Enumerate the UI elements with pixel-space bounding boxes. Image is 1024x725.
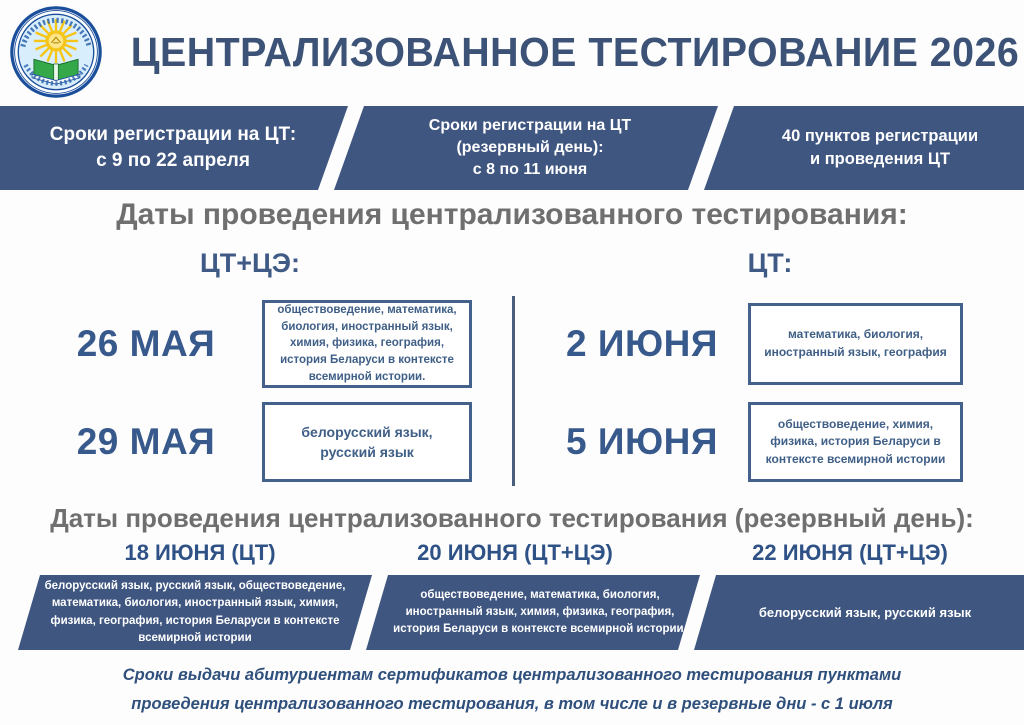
date-row: 26 МАЯ обществоведение, математика, биол… — [30, 296, 500, 391]
column-label-ct: ЦТ: — [620, 248, 920, 279]
reserve-subject-text: белорусский язык, русский язык, общество… — [30, 575, 360, 650]
date-row: 5 ИЮНЯ обществоведение, химия, физика, и… — [536, 396, 1006, 488]
subject-box: белорусский язык, русский язык — [262, 402, 472, 482]
date-label: 26 МАЯ — [30, 323, 262, 365]
registration-banner: Сроки регистрации на ЦТ: с 9 по 22 апрел… — [0, 106, 1024, 190]
main-section-heading: Даты проведения централизованного тестир… — [0, 198, 1024, 232]
banner-line: (резервный день): — [456, 137, 603, 159]
main-dates-section: ЦТ+ЦЭ: ЦТ: 26 МАЯ обществоведение, матем… — [0, 248, 1024, 493]
date-label: 2 ИЮНЯ — [536, 323, 748, 365]
reserve-date-label: 18 ИЮНЯ (ЦТ) — [75, 540, 325, 566]
banner-line: Сроки регистрации на ЦТ — [429, 115, 631, 137]
banner-panel-registration-period: Сроки регистрации на ЦТ: с 9 по 22 апрел… — [8, 106, 338, 190]
reserve-subject-text: обществоведение, математика, биология, и… — [390, 575, 690, 650]
banner-line: 40 пунктов регистрации — [782, 125, 978, 148]
footer-line: Сроки выдачи абитуриентам сертификатов ц… — [123, 661, 902, 690]
date-label: 29 МАЯ — [30, 421, 262, 463]
banner-line: и проведения ЦТ — [810, 148, 950, 171]
subject-box: математика, биология, иностранный язык, … — [748, 303, 963, 385]
reserve-date-label: 20 ИЮНЯ (ЦТ+ЦЭ) — [390, 540, 640, 566]
reserve-dates-row: 18 ИЮНЯ (ЦТ) 20 ИЮНЯ (ЦТ+ЦЭ) 22 ИЮНЯ (ЦТ… — [0, 540, 1024, 572]
reserve-subject-boxes: белорусский язык, русский язык, общество… — [0, 575, 1024, 650]
footer-line: проведения централизованного тестировани… — [131, 690, 892, 719]
subject-box: обществоведение, математика, биология, и… — [262, 300, 472, 388]
date-row: 29 МАЯ белорусский язык, русский язык — [30, 396, 500, 488]
page-title: ЦЕНТРАЛИЗОВАННОЕ ТЕСТИРОВАНИЕ 2026 — [131, 29, 1024, 76]
column-label-ct-ce: ЦТ+ЦЭ: — [100, 248, 400, 279]
banner-panel-reserve-registration: Сроки регистрации на ЦТ (резервный день)… — [370, 106, 690, 190]
ministry-of-education-emblem-icon — [10, 6, 102, 98]
banner-line: Сроки регистрации на ЦТ: — [50, 122, 296, 148]
subject-box: обществоведение, химия, физика, история … — [748, 402, 963, 482]
page-header: ЦЕНТРАЛИЗОВАННОЕ ТЕСТИРОВАНИЕ 2026 — [0, 0, 1024, 104]
reserve-subject-text: белорусский язык, русский язык — [720, 575, 1010, 650]
banner-line: с 8 по 11 июня — [473, 159, 587, 181]
ministry-logo — [0, 0, 112, 104]
footer-note: Сроки выдачи абитуриентам сертификатов ц… — [0, 655, 1024, 725]
column-divider — [512, 296, 515, 486]
reserve-date-label: 22 ИЮНЯ (ЦТ+ЦЭ) — [710, 540, 990, 566]
date-label: 5 ИЮНЯ — [536, 421, 748, 463]
banner-panel-registration-points: 40 пунктов регистрации и проведения ЦТ — [740, 106, 1020, 190]
date-row: 2 ИЮНЯ математика, биология, иностранный… — [536, 296, 1006, 391]
reserve-section-heading: Даты проведения централизованного тестир… — [0, 503, 1024, 534]
banner-line: с 9 по 22 апреля — [96, 148, 250, 174]
